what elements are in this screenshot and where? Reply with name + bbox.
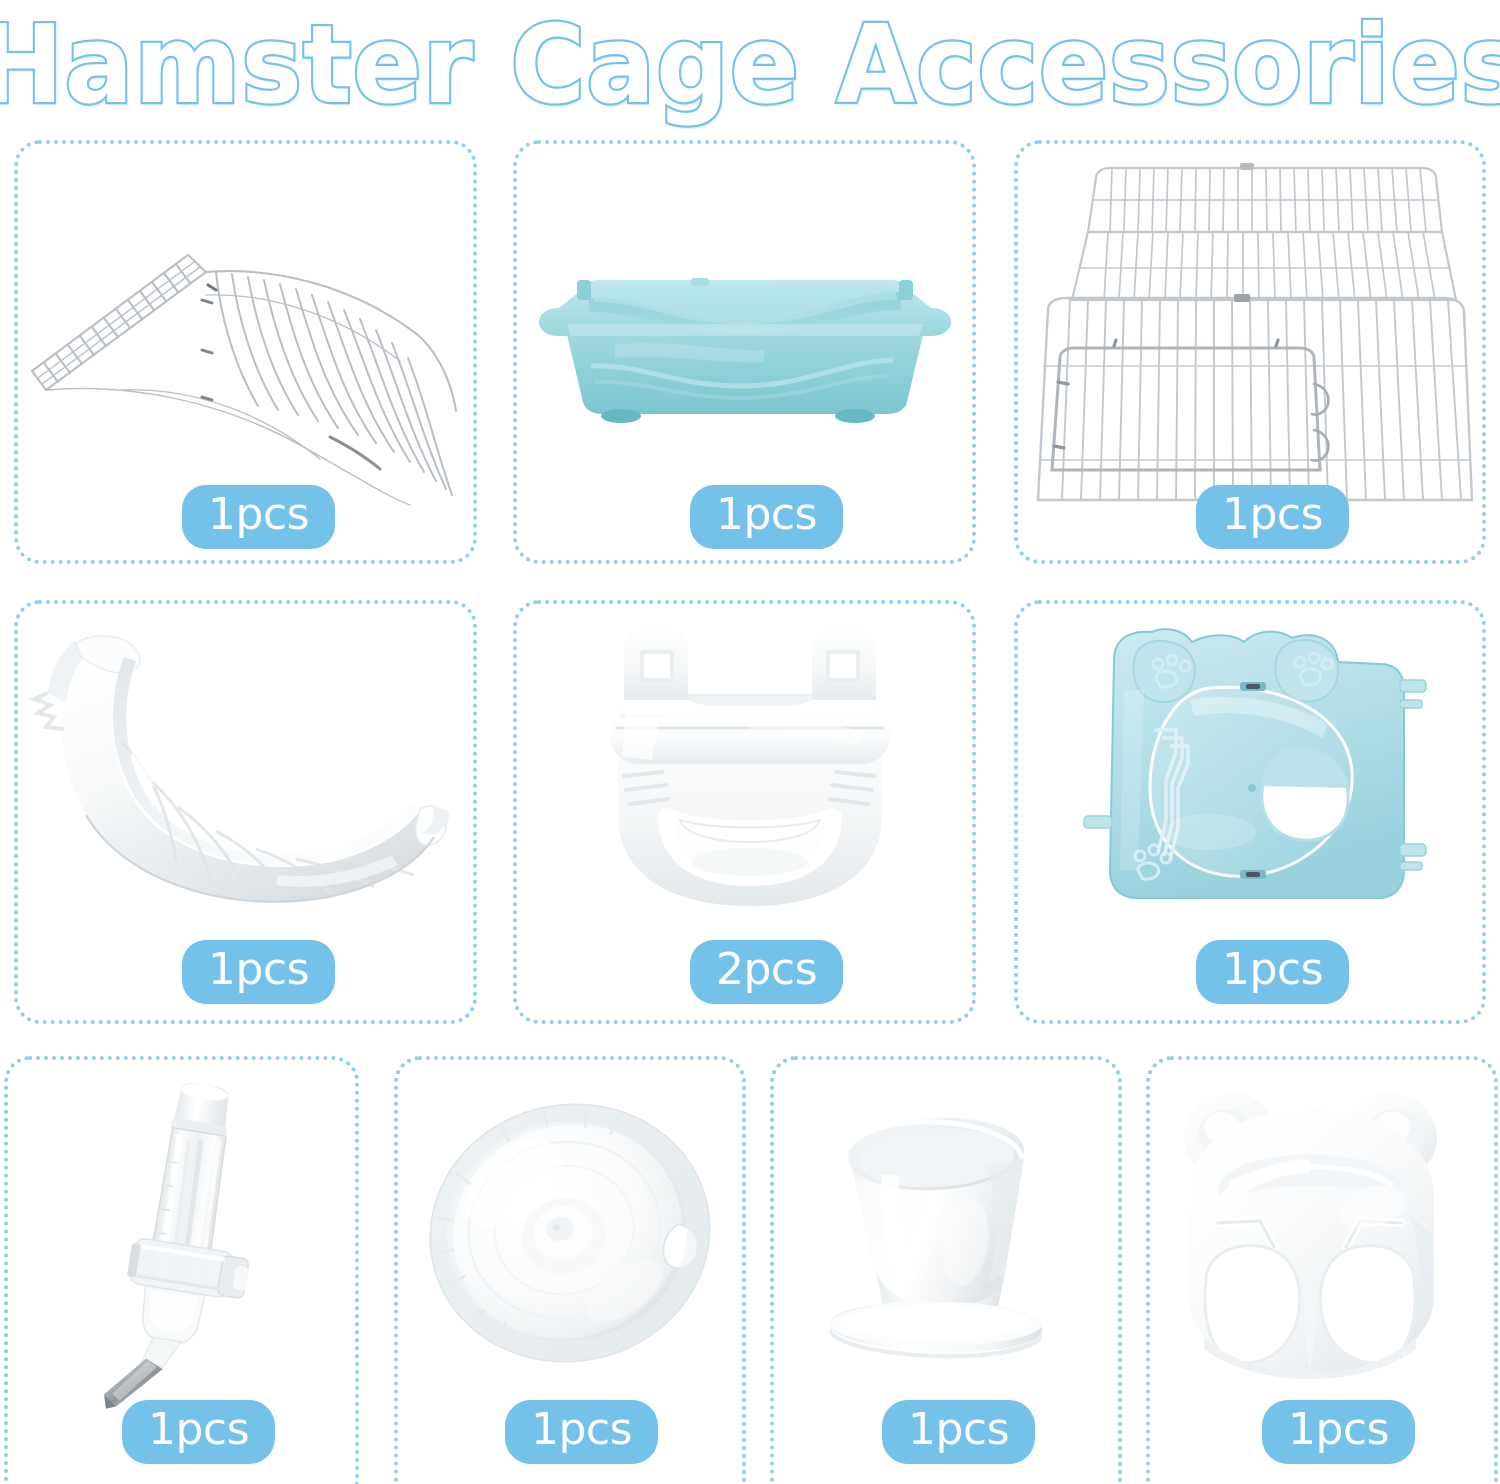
tray-icon bbox=[525, 240, 965, 430]
quantity-badge: 1pcs bbox=[1262, 1400, 1415, 1464]
quantity-badge: 1pcs bbox=[182, 485, 335, 549]
infographic-page: Hamster Cage Accessories bbox=[0, 0, 1500, 1484]
quantity-badge: 1pcs bbox=[882, 1400, 1035, 1464]
quantity-badge: 1pcs bbox=[1196, 940, 1349, 1004]
quantity-badge: 2pcs bbox=[690, 940, 843, 1004]
quantity-badge: 1pcs bbox=[505, 1400, 658, 1464]
quantity-badge: 1pcs bbox=[1196, 485, 1349, 549]
food-bowl-icon bbox=[790, 1110, 1080, 1375]
quantity-badge: 1pcs bbox=[690, 485, 843, 549]
wire-mesh-icon bbox=[20, 175, 470, 505]
quantity-badge: 1pcs bbox=[122, 1400, 275, 1464]
bear-panel-icon bbox=[1080, 620, 1430, 920]
exercise-wheel-icon bbox=[425, 1095, 715, 1370]
bear-house-icon bbox=[1160, 1085, 1460, 1385]
quantity-badge: 1pcs bbox=[182, 940, 335, 1004]
page-title: Hamster Cage Accessories bbox=[0, 11, 1500, 119]
water-bottle-icon bbox=[100, 1085, 270, 1385]
cage-panel-icon bbox=[1030, 160, 1475, 520]
platform-icon bbox=[600, 620, 900, 910]
tunnel-icon bbox=[28, 625, 458, 925]
page-title-container: Hamster Cage Accessories bbox=[0, 0, 1500, 130]
